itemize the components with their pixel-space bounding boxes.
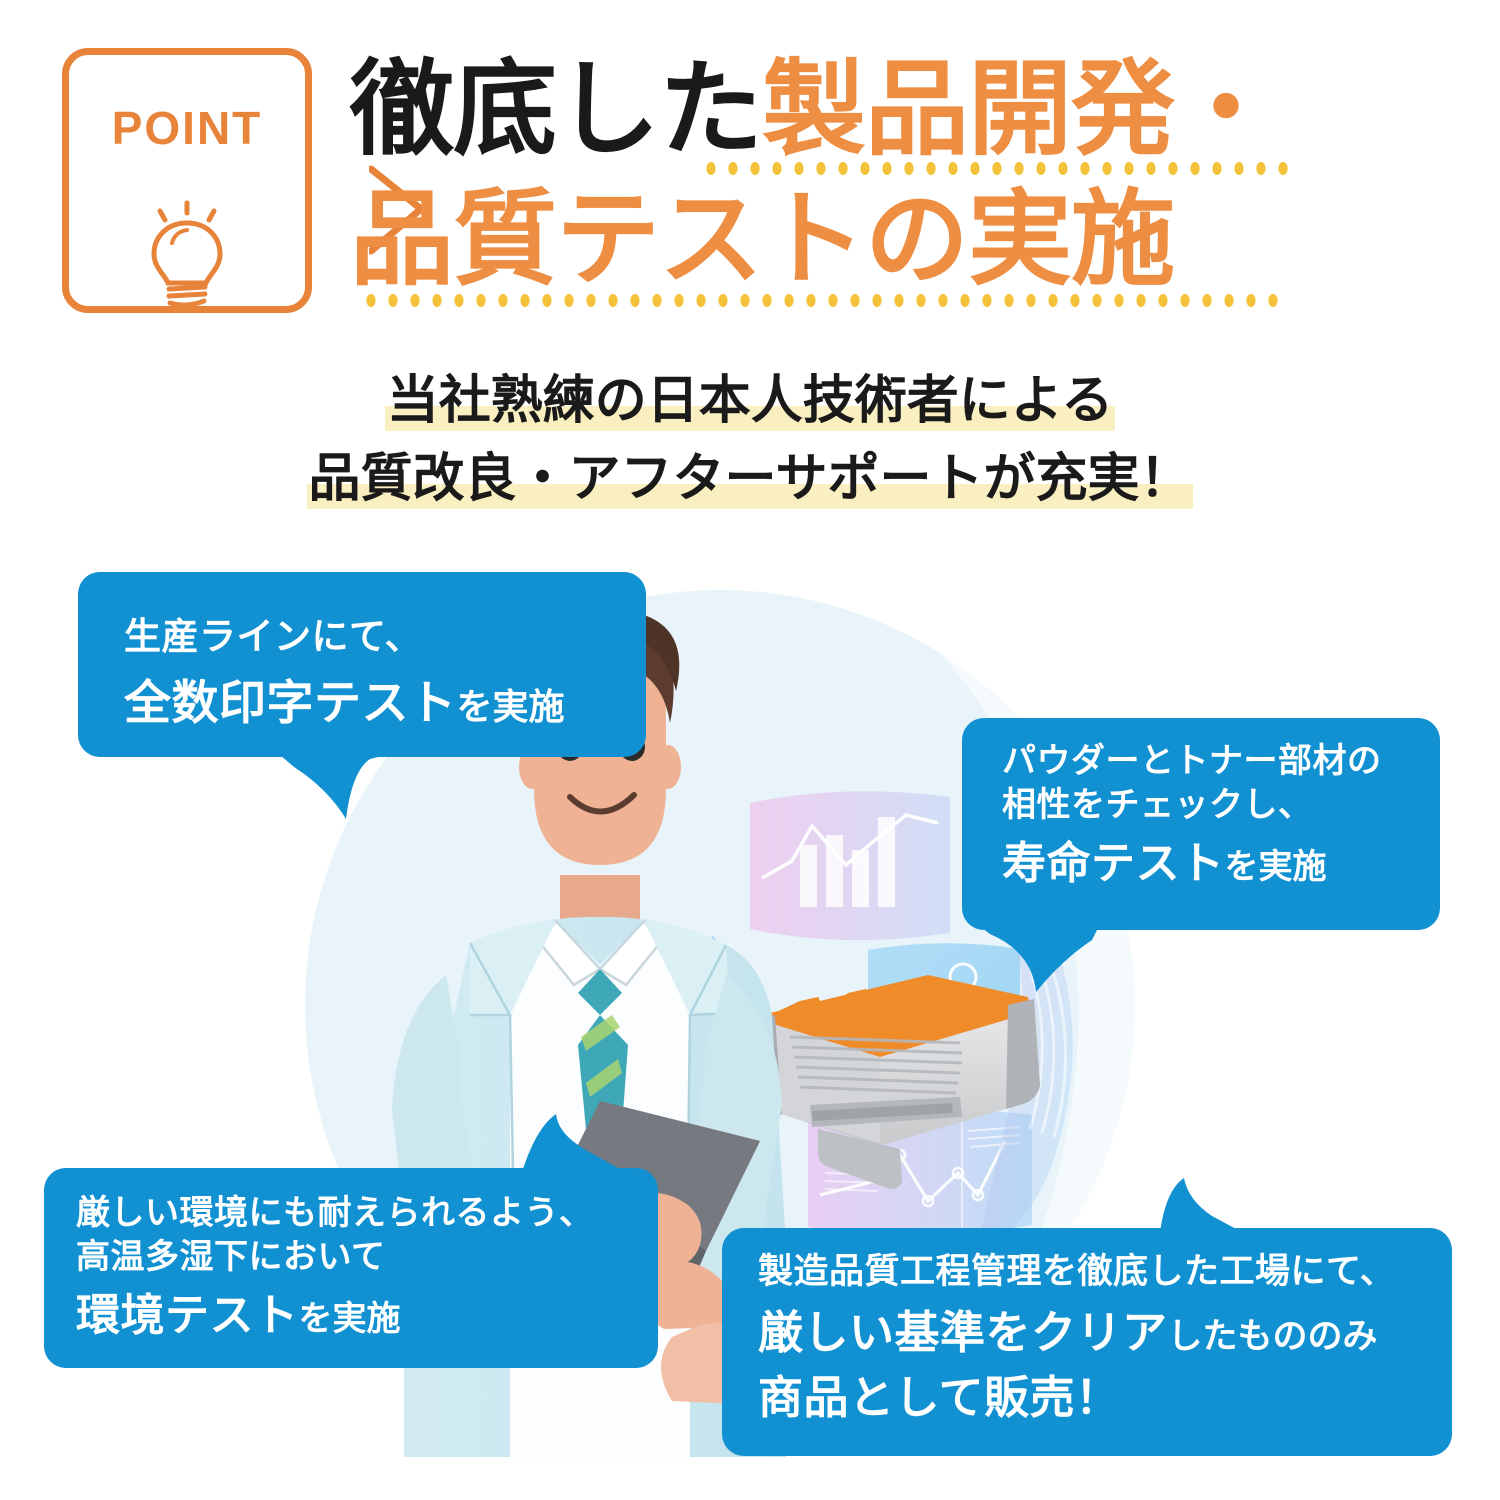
bubble-factory-standard-line1: 製造品質工程管理を徹底した工場にて、 <box>758 1250 1452 1296</box>
bubble-tail-up-right-icon <box>514 1112 624 1174</box>
point-badge: POINT <box>62 48 312 313</box>
bubble-tail-up-icon <box>1142 1176 1242 1234</box>
bubble-factory-standard-emphasis2: 厳しい基準をクリア <box>758 1306 1168 1359</box>
lightbulb-icon <box>132 195 242 315</box>
subtitle-line2: 品質改良・アフターサポートが充実！ <box>307 449 1194 509</box>
bubble-environment-test: 厳しい環境にも耐えられるよう、 高温多湿下において 環境テストを実施 <box>44 1168 658 1368</box>
bubble-life-test-emphasis: 寿命テスト <box>1002 838 1225 889</box>
bubble-factory-standard-suffix2: したもののみ <box>1168 1317 1378 1357</box>
bubble-life-test-line2: 相性をチェックし、 <box>1002 784 1440 828</box>
infographic-page: POINT 徹底した製品開発・ 品質テストの実施 <box>0 0 1500 1500</box>
bubble-print-test-emphasis: 全数印字テスト <box>124 676 457 731</box>
subtitle-line1: 当社熟練の日本人技術者による <box>385 371 1115 431</box>
page-title: 徹底した製品開発・ 品質テストの実施 <box>350 46 1350 308</box>
headline-line1-orange: 製品開発・ <box>762 48 1277 170</box>
bubble-tail-down-icon <box>278 753 388 823</box>
bubble-life-test-line1: パウダーとトナー部材の <box>1002 740 1440 784</box>
headline-line1-black: 徹底した <box>350 48 762 170</box>
bubble-factory-standard-emphasis3: 商品として販売！ <box>758 1371 1121 1424</box>
bubble-environment-test-emphasis: 環境テスト <box>76 1290 299 1341</box>
bubble-print-test: 生産ラインにて、 全数印字テストを実施 <box>78 572 646 757</box>
bar-chart-hologram <box>750 791 950 940</box>
bubble-environment-test-suffix: を実施 <box>299 1299 401 1339</box>
bubble-environment-test-line2: 高温多湿下において <box>76 1236 658 1280</box>
subtitle: 当社熟練の日本人技術者による 品質改良・アフターサポートが充実！ <box>0 362 1500 518</box>
bubble-tail-down-left-icon <box>980 926 1100 996</box>
bubble-print-test-suffix: を実施 <box>457 687 565 728</box>
bubble-print-test-line1: 生産ラインにて、 <box>124 606 646 660</box>
bubble-life-test: パウダーとトナー部材の 相性をチェックし、 寿命テストを実施 <box>962 718 1440 930</box>
bubble-life-test-suffix: を実施 <box>1225 847 1327 887</box>
point-label: POINT <box>69 101 305 155</box>
bubble-factory-standard: 製造品質工程管理を徹底した工場にて、 厳しい基準をクリアしたもののみ 商品として… <box>722 1228 1452 1456</box>
bubble-environment-test-line1: 厳しい環境にも耐えられるよう、 <box>76 1192 658 1236</box>
headline-line2-orange: 品質テストの実施 <box>350 178 1174 300</box>
